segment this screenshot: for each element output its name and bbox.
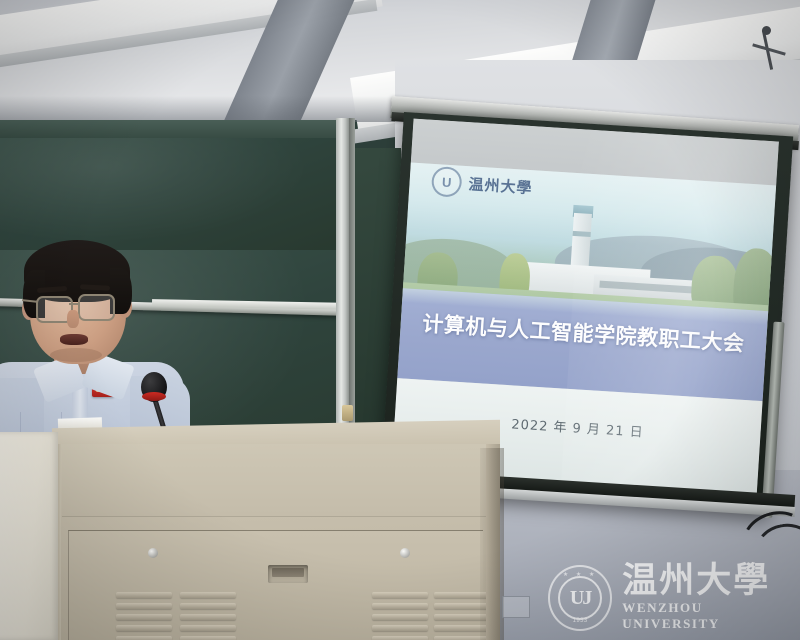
slide-logo-text: 温州大學 (468, 173, 533, 198)
presenter-chin-shadow (50, 348, 102, 362)
wall-bracket-head (762, 26, 771, 35)
podium-vent-1 (116, 592, 172, 640)
podium-screw-left (148, 548, 158, 558)
watermark-text: 温州大學 WENZHOU UNIVERSITY (622, 564, 800, 632)
photo-scene: U 温州大學 计算机与人工智能学院教职工大会 2022 年 9 月 21 日 ★… (0, 0, 800, 640)
slide-glare (561, 129, 779, 501)
podium-vent-3 (372, 592, 428, 640)
watermark-english: WENZHOU UNIVERSITY (622, 600, 800, 632)
wall-outlet-plate (502, 596, 530, 618)
podium-screw-right (400, 548, 410, 558)
podium-vent-2 (180, 592, 236, 640)
podium-door-handle-recess (272, 568, 304, 577)
slide-seal-icon: U (431, 166, 463, 198)
watermark-seal-year: 1933 (550, 618, 610, 624)
watermark-seal-stars: ★ ★ ★ (550, 571, 610, 578)
podium-upper-panel (62, 450, 490, 517)
watermark-seal-icon: ★ ★ ★ UJ 1933 (548, 565, 612, 631)
watermark-logo: ★ ★ ★ UJ 1933 温州大學 WENZHOU UNIVERSITY (548, 556, 800, 640)
microphone-red-band (142, 392, 166, 401)
podium-side-panel (0, 432, 58, 640)
presenter-nose (67, 310, 79, 328)
glasses-lens-right-icon (78, 294, 115, 321)
glasses-bridge (69, 303, 80, 305)
podium-shadow-right (480, 448, 504, 640)
blackboard-clip (342, 405, 353, 421)
watermark-seal-monogram: UJ (558, 576, 602, 620)
presenter-mouth (60, 334, 88, 345)
